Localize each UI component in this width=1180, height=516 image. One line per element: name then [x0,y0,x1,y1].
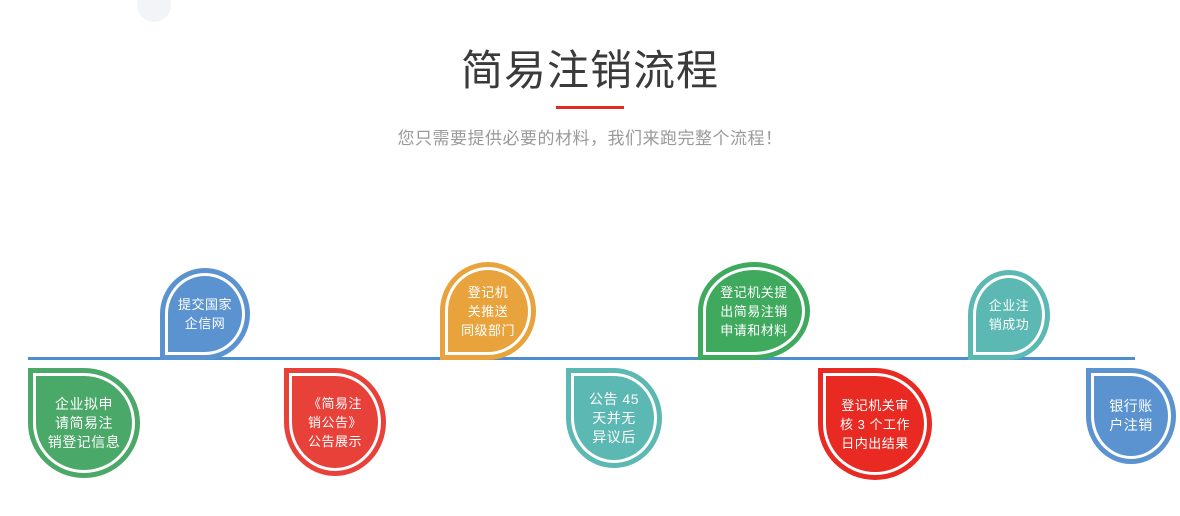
pin-registry-push-department[interactable]: 登记机 关推送 同级部门 [440,262,536,360]
pin-label: 提交国家 企信网 [172,295,238,333]
page-header: 简易注销流程 您只需要提供必要的材料，我们来跑完整个流程！ [0,44,1180,151]
pin-apply-simple-deregistration[interactable]: 企业拟申 请简易注 销登记信息 [28,368,140,478]
pin-label: 《简易注 销公告》 公告展示 [302,394,368,451]
pin-announce-45-days[interactable]: 公告 45 天并无 异议后 [566,368,662,468]
title-underline-rule [556,106,624,109]
pin-announcement-display[interactable]: 《简易注 销公告》 公告展示 [284,368,386,476]
decorative-circle [137,0,171,22]
pin-label: 公告 45 天并无 异议后 [583,390,645,447]
pin-deregistration-success[interactable]: 企业注 销成功 [968,270,1050,360]
pin-label: 登记机关提 出简易注销 申请和材料 [714,283,794,340]
pin-label: 登记机关审 核 3 个工作 日内出结果 [834,396,916,453]
pin-label: 企业注 销成功 [983,296,1036,334]
page-subtitle: 您只需要提供必要的材料，我们来跑完整个流程！ [0,127,1180,151]
pin-submit-national-credit-net[interactable]: 提交国家 企信网 [160,268,250,360]
flow-diagram-page: 简易注销流程 您只需要提供必要的材料，我们来跑完整个流程！ 企业拟申 请简易注 … [0,0,1180,516]
pin-label: 银行账 户注销 [1103,397,1159,435]
pin-label: 登记机 关推送 同级部门 [455,283,521,340]
pin-registry-review-3-days[interactable]: 登记机关审 核 3 个工作 日内出结果 [818,368,932,480]
pin-registry-submit-application[interactable]: 登记机关提 出简易注销 申请和材料 [698,262,810,360]
pin-label: 企业拟申 请简易注 销登记信息 [42,395,127,452]
page-title: 简易注销流程 [0,44,1180,98]
pin-bank-account-closure[interactable]: 银行账 户注销 [1086,368,1176,464]
